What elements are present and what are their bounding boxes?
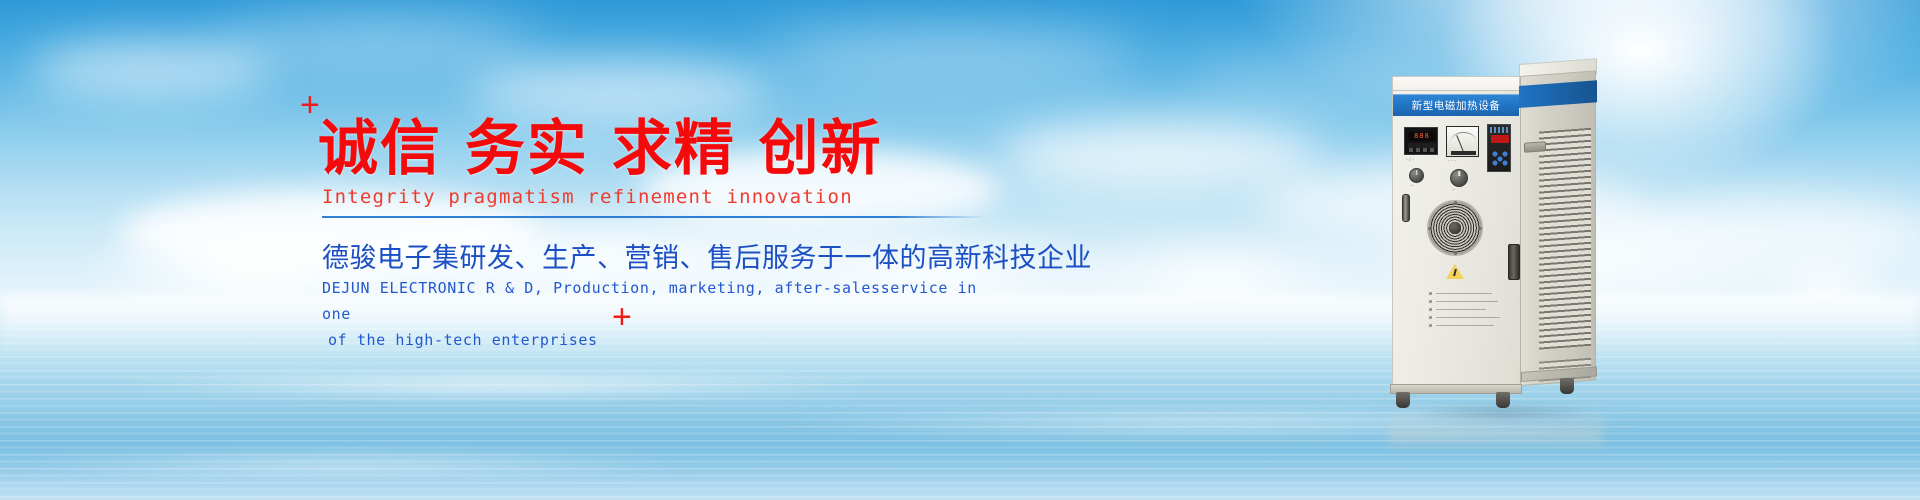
instruction-bullet [1429, 300, 1432, 303]
company-tagline-chinese: 德骏电子集研发、生产、营销、售后服务于一体的高新科技企业 [322, 236, 1092, 275]
control-caption: - - - [1448, 159, 1456, 164]
knob-indicator-icon [1458, 171, 1460, 176]
door-handle[interactable] [1402, 194, 1410, 222]
instruction-bullet [1429, 324, 1432, 327]
instruction-line [1436, 293, 1492, 294]
control-caption: - / - [1406, 158, 1414, 163]
plus-mark-icon: + [300, 88, 320, 122]
fan-screw [1454, 201, 1457, 204]
caster-wheel [1560, 378, 1574, 394]
knob-indicator-icon [1416, 170, 1418, 175]
keypad-header [1490, 127, 1510, 133]
instruction-line [1436, 309, 1486, 310]
control-caption: -- [1452, 188, 1455, 193]
cloud [1560, 195, 1920, 273]
fan-screw [1428, 227, 1431, 230]
fan-screw [1454, 252, 1457, 255]
sea-shimmer [0, 452, 700, 478]
controller-buttons[interactable] [1409, 148, 1435, 152]
banner-headline-english: Integrity pragmatism refinement innovati… [322, 186, 853, 208]
company-tagline-english: DEJUN ELECTRONIC R & D, Production, mark… [322, 275, 982, 353]
control-caption: -- [1410, 184, 1413, 189]
product-machine: 新型电磁加热设备 888 - / - - - - -- -- [1392, 72, 1612, 417]
ventilation-grille-icon [1539, 128, 1591, 350]
fan-hub [1449, 222, 1461, 234]
keypad-buttons[interactable] [1491, 150, 1509, 166]
panel-latch[interactable] [1508, 244, 1520, 280]
caster-wheel [1496, 392, 1510, 408]
banner-headline: 诚信 务实 求精 创新 [318, 118, 883, 181]
digital-keypad-panel[interactable] [1487, 124, 1511, 172]
caster-wheel [1396, 392, 1410, 408]
temperature-controller-display: 888 [1404, 127, 1438, 155]
tagline-english-line-1: DEJUN ELECTRONIC R & D, Production, mark… [322, 279, 977, 323]
gauge-base [1451, 151, 1476, 155]
seven-segment-readout: 888 [1408, 132, 1436, 141]
instruction-bullet [1429, 292, 1432, 295]
instruction-line [1436, 325, 1494, 326]
company-banner: + + 诚信 务实 求精 创新 Integrity pragmatism ref… [0, 0, 1920, 500]
warning-triangle-icon [1446, 264, 1464, 280]
cloud [1000, 120, 1320, 190]
fan-screw [1479, 227, 1482, 230]
keypad-display [1491, 135, 1509, 143]
cloud [760, 30, 1140, 82]
tagline-english-line-2: of the high-tech enterprises [322, 327, 982, 353]
rotary-switch-knob[interactable] [1409, 168, 1424, 183]
rotary-dial-knob[interactable] [1450, 169, 1468, 187]
analog-ammeter-gauge [1446, 126, 1479, 157]
section-divider [322, 216, 986, 218]
instruction-label [1428, 290, 1502, 330]
sea-shimmer [120, 372, 880, 398]
gauge-scale [1451, 132, 1476, 141]
machine-label: 新型电磁加热设备 [1393, 94, 1519, 116]
instruction-bullet [1429, 308, 1432, 311]
cooling-fan-grille-icon [1427, 200, 1483, 256]
cloud [470, 60, 770, 122]
cloud [210, 20, 540, 66]
machine-side-port [1524, 141, 1546, 153]
instruction-line [1436, 301, 1498, 302]
instruction-bullet [1429, 316, 1432, 319]
instruction-line [1436, 317, 1500, 318]
machine-side-panel [1520, 70, 1596, 386]
